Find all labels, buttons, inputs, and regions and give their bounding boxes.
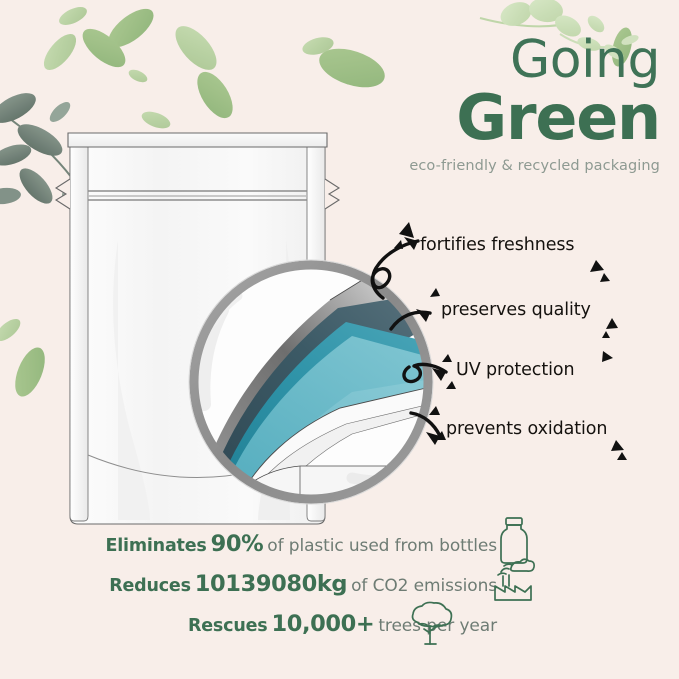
stat-verb: Eliminates <box>106 536 207 556</box>
stat-value: 10139080kg <box>195 571 347 597</box>
stat-verb: Rescues <box>188 616 267 636</box>
feature-label-fortifies-freshness: fortifies freshness <box>420 235 574 255</box>
stat-row-co2: Reduces10139080kgof CO2 emissions <box>0 571 679 611</box>
factory-icon <box>489 556 537 607</box>
feature-label-preserves-quality: preserves quality <box>441 300 591 320</box>
tree-icon <box>403 600 459 653</box>
feature-label-uv-protection: UV protection <box>456 360 574 380</box>
stat-verb: Reduces <box>109 576 191 596</box>
stat-row-trees: Rescues10,000+trees per year <box>0 611 679 651</box>
title-line-green: Green <box>392 88 660 149</box>
headline-block: Going Green eco-friendly & recycled pack… <box>392 36 660 174</box>
stat-description: of CO2 emissions <box>351 576 497 596</box>
statistics-block: Eliminates90%of plastic used from bottle… <box>0 531 679 651</box>
title-line-going: Going <box>392 36 660 86</box>
stat-description: of plastic used from bottles <box>267 536 497 556</box>
stat-value: 10,000+ <box>271 611 374 637</box>
poster-canvas: Going Green eco-friendly & recycled pack… <box>0 0 679 679</box>
headline-subtitle: eco-friendly & recycled packaging <box>392 158 660 174</box>
stat-row-plastic: Eliminates90%of plastic used from bottle… <box>0 531 679 571</box>
feature-label-prevents-oxidation: prevents oxidation <box>446 419 607 439</box>
stat-value: 90% <box>211 531 264 557</box>
